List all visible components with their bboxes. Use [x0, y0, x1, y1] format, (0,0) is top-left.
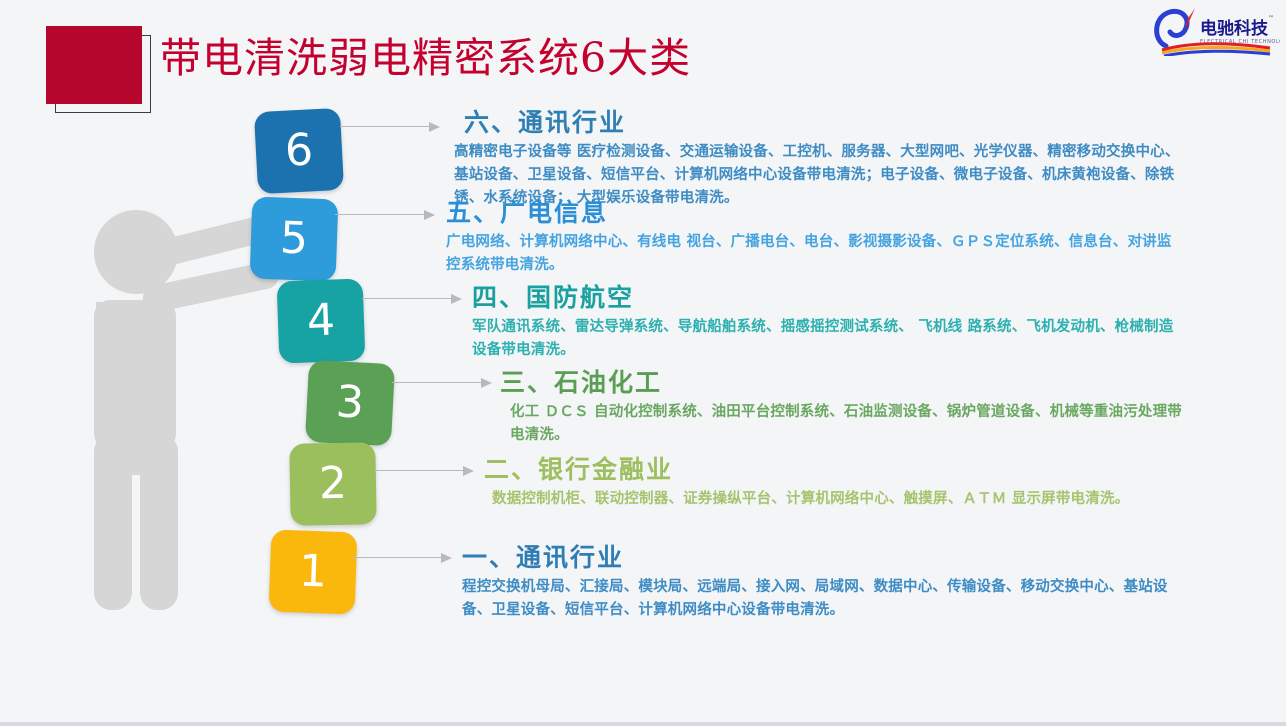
section-1: 一、通讯行业 程控交换机母局、汇接局、模块局、远端局、接入网、局域网、数据中心、…	[462, 543, 1192, 622]
section-2: 二、银行金融业 数据控制机柜、联动控制器、证券操纵平台、计算机网络中心、触摸屏、…	[484, 455, 1184, 511]
section-2-body: 数据控制机柜、联动控制器、证券操纵平台、计算机网络中心、触摸屏、ＡＴＭ 显示屏带…	[484, 488, 1132, 511]
step-box-3[interactable]: 3	[305, 360, 395, 446]
section-5-body: 广电网络、计算机网络中心、有线电 视台、广播电台、电台、影视摄影设备、ＧＰＳ定位…	[446, 231, 1181, 277]
arrow-shaft	[392, 382, 482, 383]
section-1-heading: 一、通讯行业	[462, 543, 1192, 573]
section-4-body: 军队通讯系统、雷达导弹系统、导航船舶系统、摇感摇控测试系统、 飞机线 路系统、飞…	[472, 316, 1187, 362]
svg-text:电驰科技: 电驰科技	[1200, 18, 1269, 39]
step-box-1[interactable]: 1	[269, 530, 358, 615]
company-logo: 电驰科技 ELECTRICAL CHI TECHNOLOGY ™	[1150, 0, 1280, 56]
connector-arrow-5	[335, 210, 435, 220]
arrow-head	[451, 294, 462, 304]
step-number-4: 4	[306, 295, 336, 347]
step-box-6[interactable]: 6	[254, 108, 344, 194]
connector-arrow-6	[340, 122, 440, 132]
arrow-head	[463, 466, 474, 476]
connector-arrow-3	[392, 378, 492, 388]
arrow-shaft	[352, 557, 442, 558]
connector-arrow-1	[352, 553, 452, 563]
arrow-head	[441, 553, 452, 563]
section-1-body: 程控交换机母局、汇接局、模块局、远端局、接入网、局域网、数据中心、传输设备、移动…	[462, 576, 1172, 622]
section-3: 三、石油化工 化工 ＤＣＳ 自动化控制系统、油田平台控制系统、石油监测设备、锅炉…	[500, 368, 1195, 447]
section-2-heading: 二、银行金融业	[484, 455, 1184, 485]
step-box-5[interactable]: 5	[250, 197, 339, 282]
step-number-1: 1	[298, 546, 328, 598]
step-number-3: 3	[335, 376, 366, 428]
svg-text:™: ™	[1268, 15, 1274, 22]
section-4-heading: 四、国防航空	[472, 283, 1192, 313]
section-4: 四、国防航空 军队通讯系统、雷达导弹系统、导航船舶系统、摇感摇控测试系统、 飞机…	[472, 283, 1192, 362]
connector-arrow-4	[362, 294, 462, 304]
step-number-2: 2	[319, 458, 348, 509]
arrow-shaft	[335, 214, 425, 215]
step-number-6: 6	[284, 124, 315, 176]
step-box-2[interactable]: 2	[289, 442, 376, 525]
accent-square	[46, 26, 142, 104]
connector-arrow-2	[374, 466, 474, 476]
arrow-head	[424, 210, 435, 220]
section-5-heading: 五、广电信息	[446, 198, 1186, 228]
section-3-heading: 三、石油化工	[500, 368, 1195, 398]
arrow-shaft	[362, 298, 452, 299]
section-6: 六、通讯行业 高精密电子设备等 医疗检测设备、交通运输设备、工控机、服务器、大型…	[452, 108, 1192, 210]
step-number-5: 5	[279, 213, 309, 265]
arrow-head	[429, 122, 440, 132]
slide-canvas: 电驰科技 ELECTRICAL CHI TECHNOLOGY ™ 带电清洗弱电精…	[0, 0, 1286, 726]
section-3-body: 化工 ＤＣＳ 自动化控制系统、油田平台控制系统、石油监测设备、锅炉管道设备、机械…	[500, 401, 1195, 447]
accent-square-group	[46, 26, 142, 104]
arrow-shaft	[374, 470, 464, 471]
page-title: 带电清洗弱电精密系统6大类	[160, 38, 691, 79]
arrow-head	[481, 378, 492, 388]
step-box-4[interactable]: 4	[277, 279, 366, 364]
arrow-shaft	[340, 126, 430, 127]
section-6-heading: 六、通讯行业	[452, 108, 1192, 138]
section-5: 五、广电信息 广电网络、计算机网络中心、有线电 视台、广播电台、电台、影视摄影设…	[446, 198, 1186, 277]
